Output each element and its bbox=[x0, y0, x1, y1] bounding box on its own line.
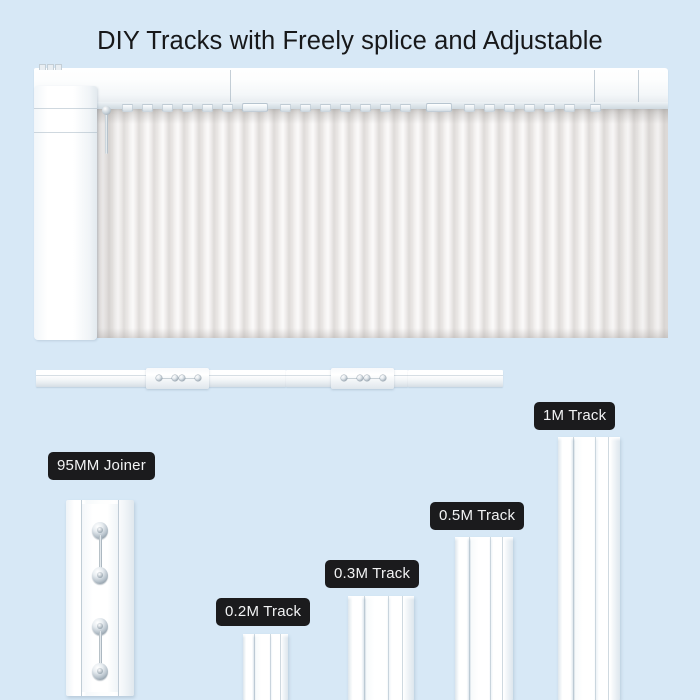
joiner-screw-assembly bbox=[92, 522, 108, 584]
joiner-95mm-detail bbox=[66, 500, 134, 696]
motor-housing bbox=[34, 86, 97, 340]
track-joiner bbox=[146, 368, 209, 389]
page-title: DIY Tracks with Freely splice and Adjust… bbox=[0, 26, 700, 56]
track-sample-0-2m bbox=[243, 634, 288, 700]
joiner-screw-assembly bbox=[92, 618, 108, 680]
callout-track-0-2m: 0.2M Track bbox=[216, 598, 310, 626]
motorized-curtain-track-assembly bbox=[34, 68, 668, 340]
track-sample-0-5m bbox=[455, 537, 513, 700]
draw-rod-knob bbox=[102, 106, 111, 115]
curtain-bottom-edge bbox=[97, 328, 668, 338]
track-segment bbox=[36, 370, 158, 387]
track-sample-1m bbox=[558, 437, 620, 700]
curtain-shading bbox=[97, 108, 668, 338]
callout-joiner-95mm: 95MM Joiner bbox=[48, 452, 155, 480]
callout-track-1m: 1M Track bbox=[534, 402, 615, 430]
spliced-track-assembly bbox=[36, 368, 503, 390]
callout-track-0-5m: 0.5M Track bbox=[430, 502, 524, 530]
pleated-curtain-panel bbox=[97, 108, 668, 338]
track-sample-0-3m bbox=[348, 596, 414, 700]
callout-track-0-3m: 0.3M Track bbox=[325, 560, 419, 588]
track-joiner bbox=[331, 368, 394, 389]
product-image-canvas: DIY Tracks with Freely splice and Adjust… bbox=[0, 0, 700, 700]
track-segment bbox=[408, 370, 503, 387]
